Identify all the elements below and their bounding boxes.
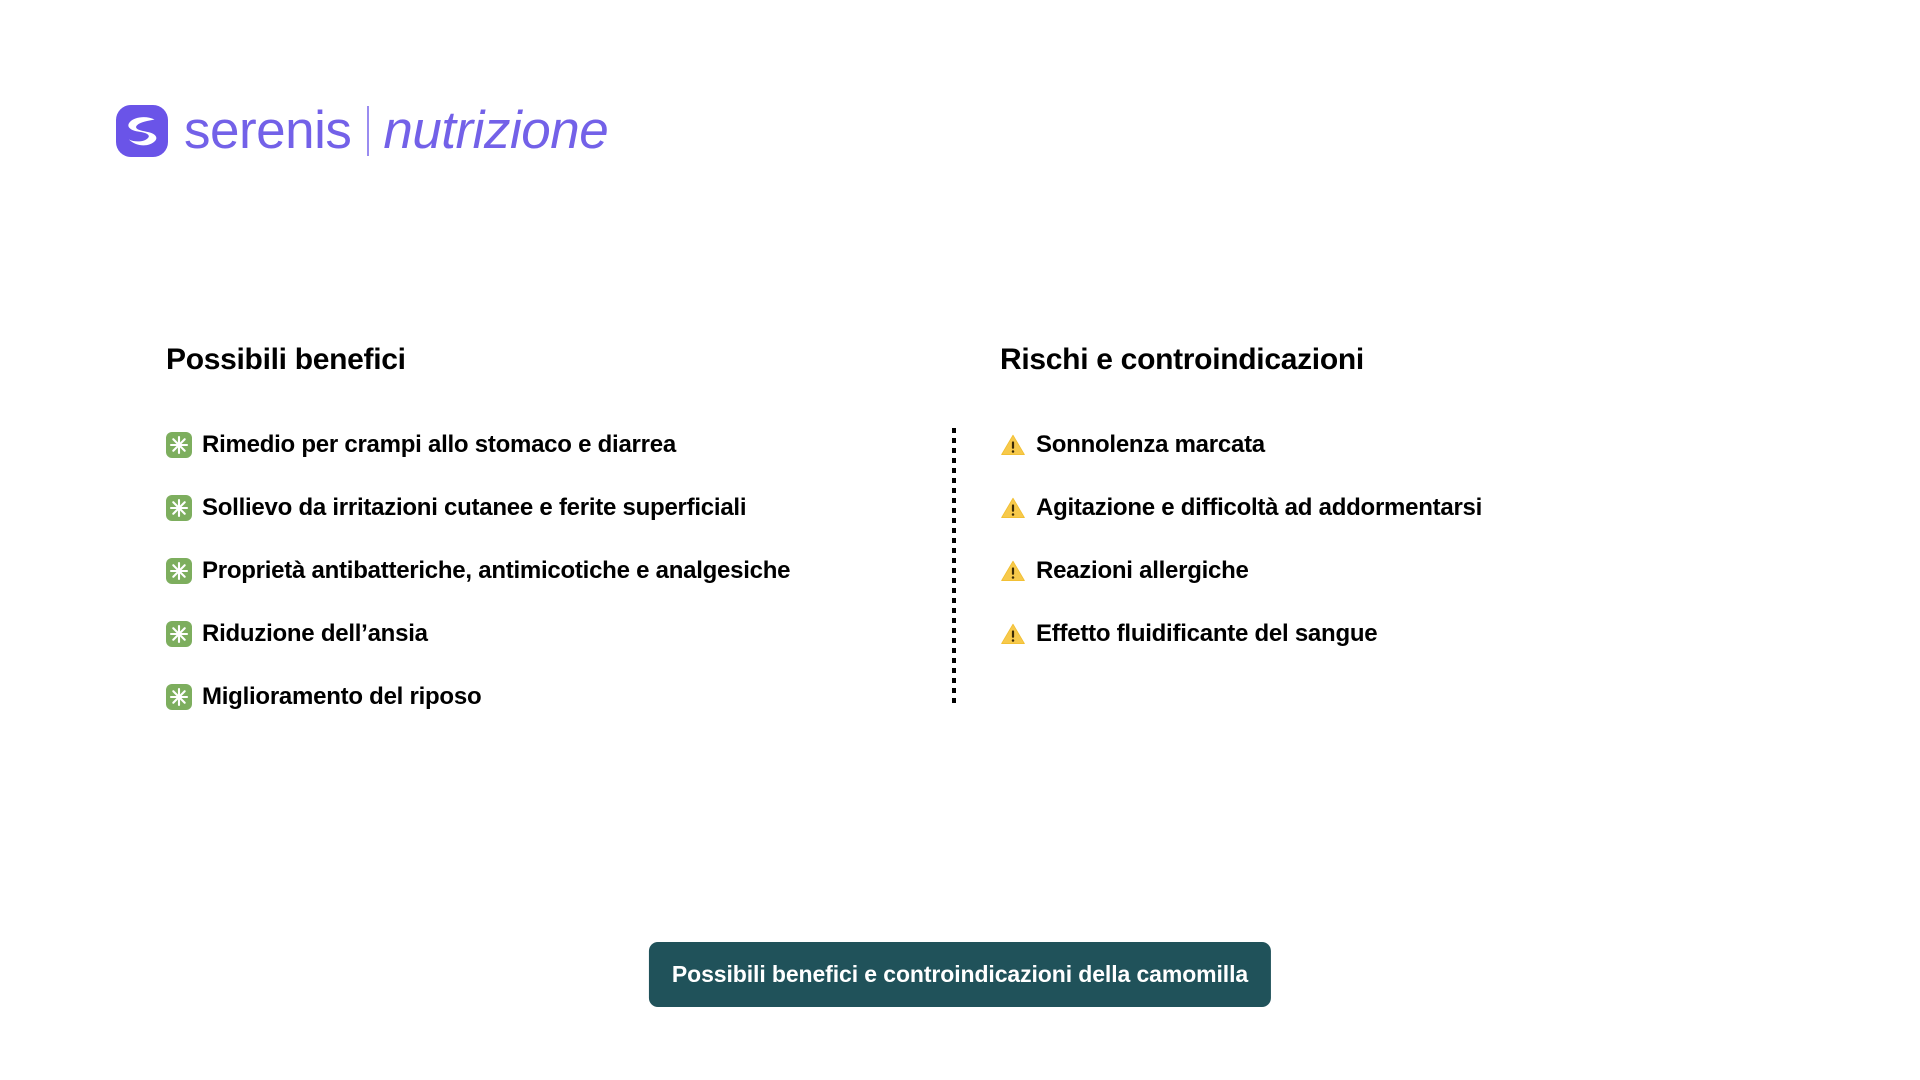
list-item-label: Proprietà antibatteriche, antimicotiche …: [202, 556, 790, 586]
brand-wordmark: serenis nutrizione: [184, 104, 608, 157]
warning-triangle-icon: [1000, 621, 1026, 647]
brand-logo: serenis nutrizione: [116, 104, 608, 157]
list-item: Agitazione e difficoltà ad addormentarsi: [1000, 493, 1790, 523]
warning-triangle-icon: [1000, 558, 1026, 584]
risks-list: Sonnolenza marcata Agitazione e difficol…: [1000, 430, 1790, 649]
list-item-label: Effetto fluidificante del sangue: [1036, 619, 1377, 649]
green-asterisk-icon: [166, 684, 192, 710]
list-item-label: Riduzione dell’ansia: [202, 619, 428, 649]
column-divider: [952, 428, 956, 706]
list-item: Rimedio per crampi allo stomaco e diarre…: [166, 430, 956, 460]
list-item: Proprietà antibatteriche, antimicotiche …: [166, 556, 956, 586]
list-item-label: Reazioni allergiche: [1036, 556, 1249, 586]
caption-banner[interactable]: Possibili benefici e controindicazioni d…: [649, 942, 1271, 1007]
list-item: Reazioni allergiche: [1000, 556, 1790, 586]
list-item: Effetto fluidificante del sangue: [1000, 619, 1790, 649]
list-item-label: Sonnolenza marcata: [1036, 430, 1265, 460]
list-item: Riduzione dell’ansia: [166, 619, 956, 649]
list-item: Miglioramento del riposo: [166, 682, 956, 712]
list-item: Sollievo da irritazioni cutanee e ferite…: [166, 493, 956, 523]
list-item-label: Miglioramento del riposo: [202, 682, 481, 712]
benefits-list: Rimedio per crampi allo stomaco e diarre…: [166, 430, 956, 712]
list-item-label: Rimedio per crampi allo stomaco e diarre…: [202, 430, 676, 460]
list-item-label: Sollievo da irritazioni cutanee e ferite…: [202, 493, 746, 523]
green-asterisk-icon: [166, 558, 192, 584]
list-item: Sonnolenza marcata: [1000, 430, 1790, 460]
warning-triangle-icon: [1000, 432, 1026, 458]
list-item-label: Agitazione e difficoltà ad addormentarsi: [1036, 493, 1482, 523]
brand-separator: [367, 106, 369, 156]
serenis-s-logo-icon: [116, 105, 168, 157]
warning-triangle-icon: [1000, 495, 1026, 521]
green-asterisk-icon: [166, 495, 192, 521]
brand-sub-name: nutrizione: [383, 104, 608, 157]
benefits-column: Possibili benefici Rimedio per crampi al…: [166, 342, 956, 712]
green-asterisk-icon: [166, 432, 192, 458]
slide-canvas: serenis nutrizione Possibili benefici: [0, 0, 1920, 1080]
risks-column: Rischi e controindicazioni Sonnolenza ma…: [1000, 342, 1790, 649]
green-asterisk-icon: [166, 621, 192, 647]
brand-name: serenis: [184, 104, 351, 157]
benefits-heading: Possibili benefici: [166, 342, 956, 378]
risks-heading: Rischi e controindicazioni: [1000, 342, 1790, 378]
